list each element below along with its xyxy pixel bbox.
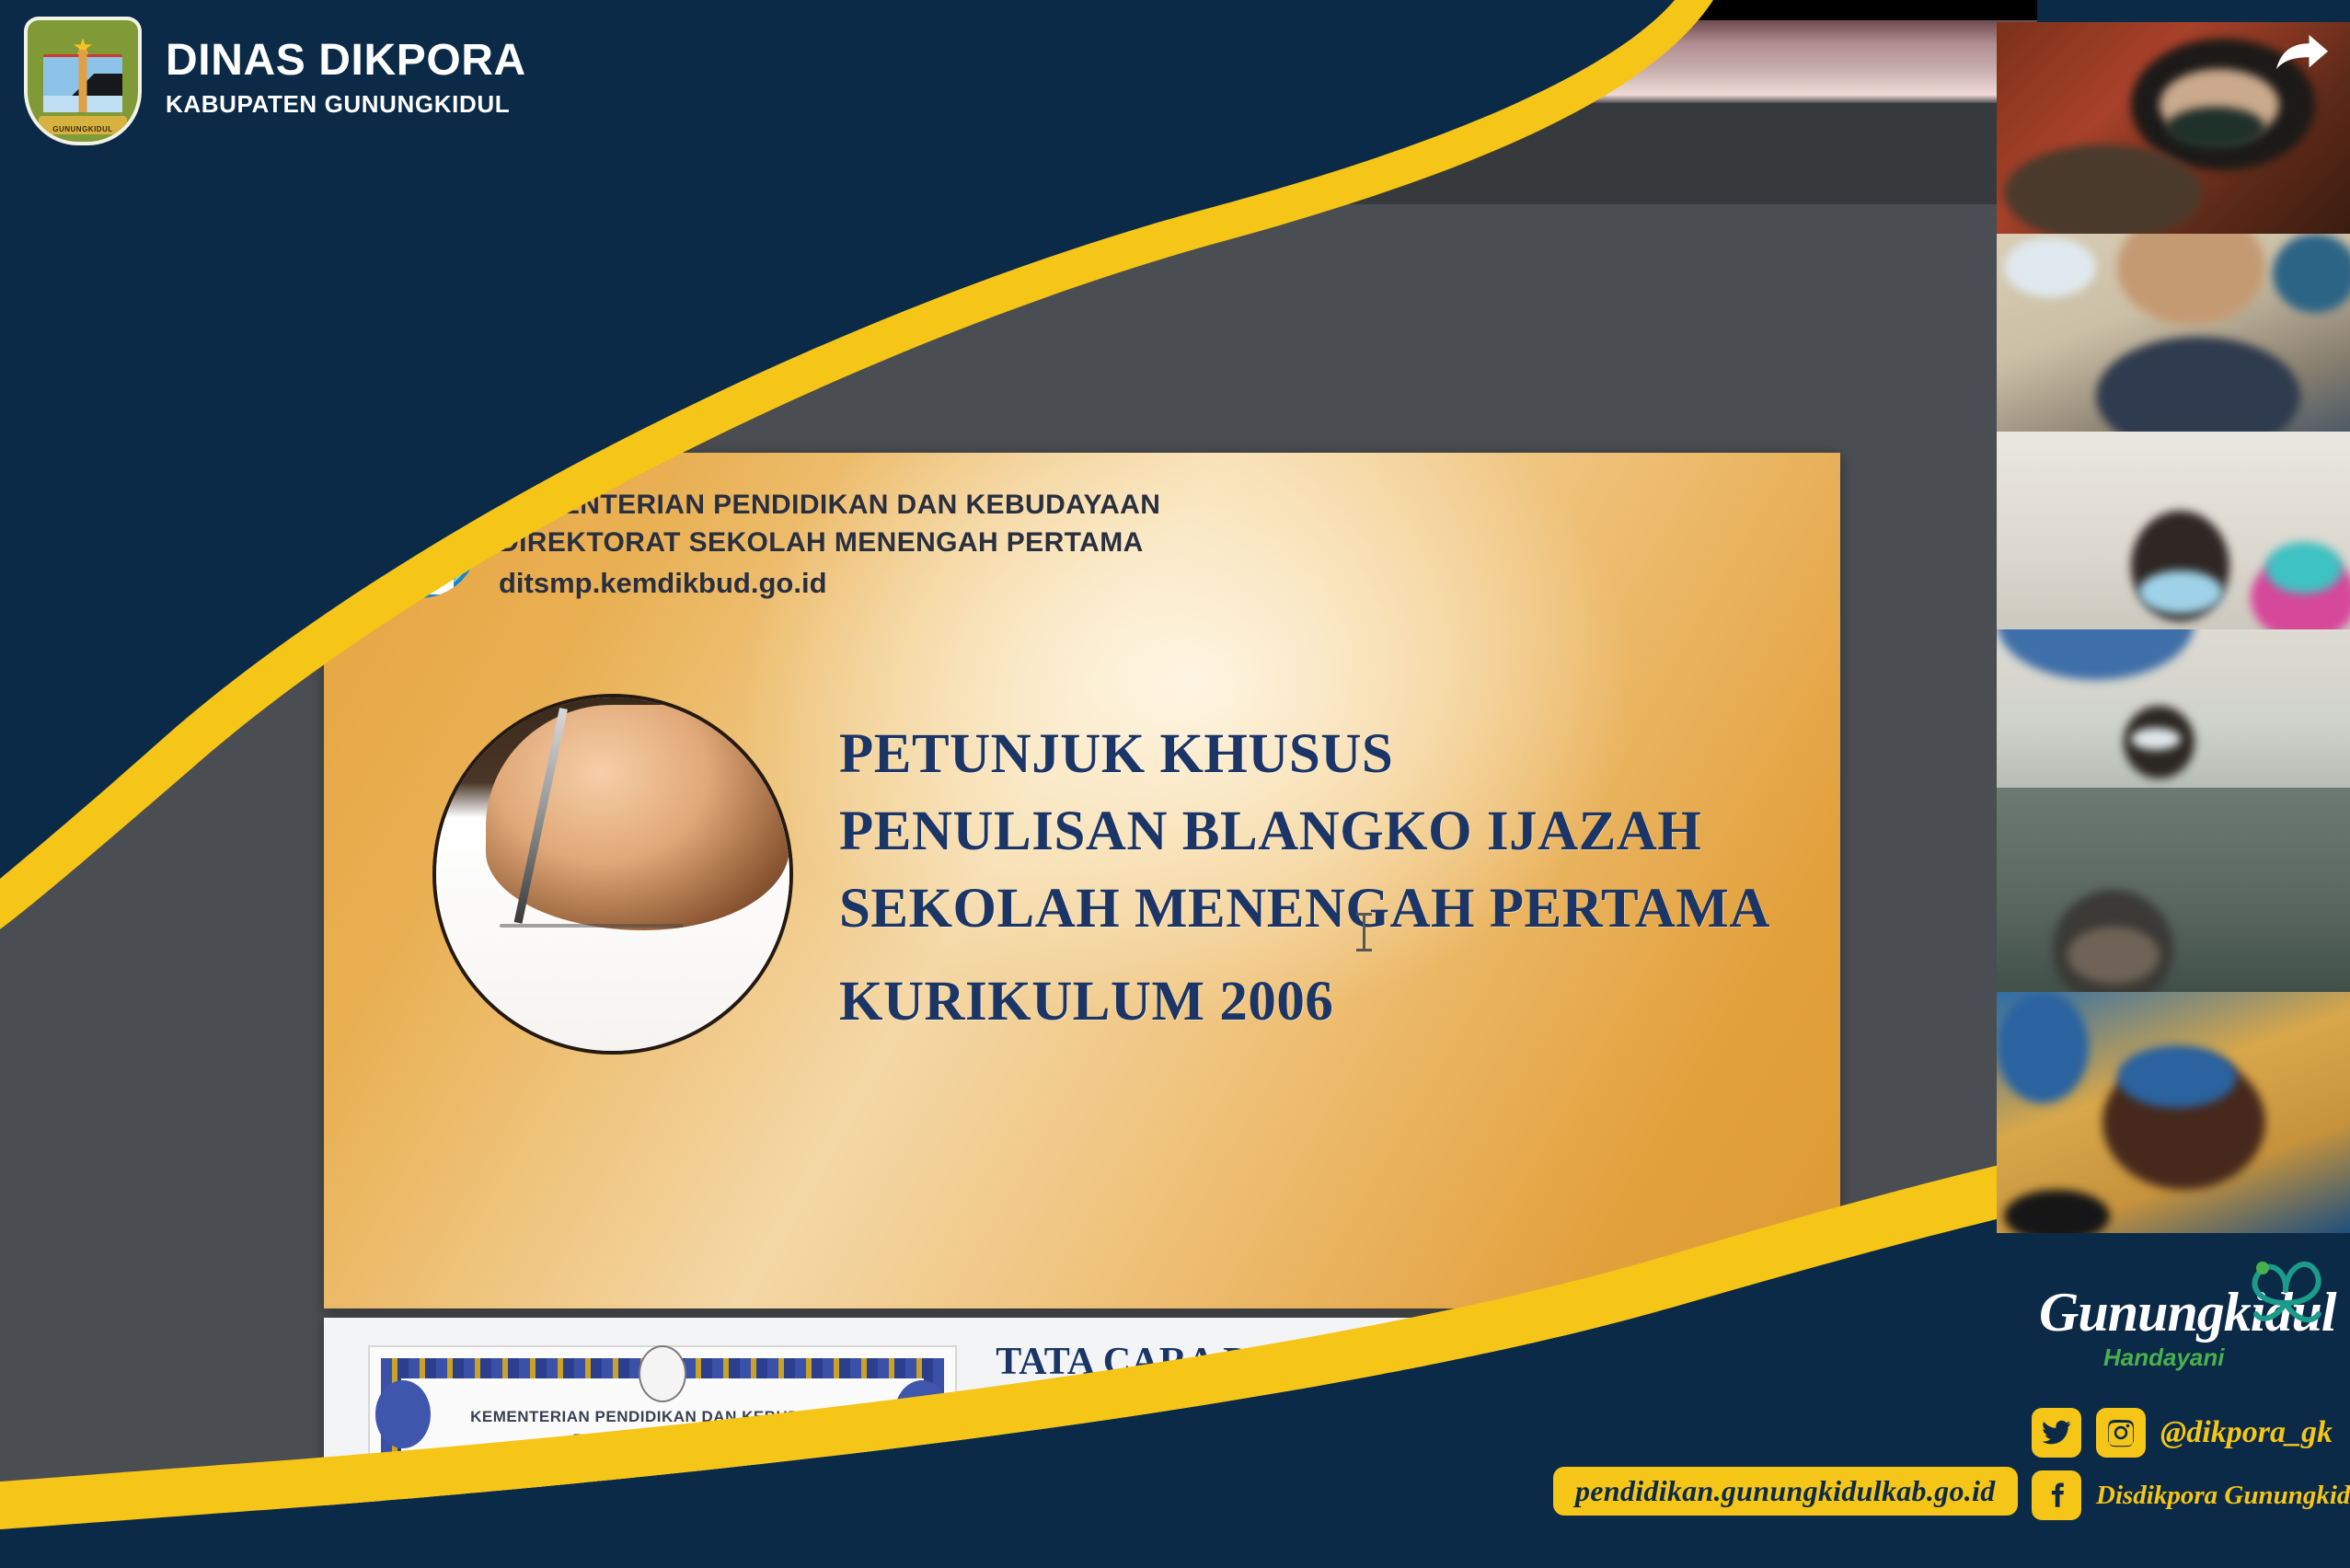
callout-arrow-icon [933, 1533, 979, 1537]
participant-tile-6[interactable] [1997, 992, 2350, 1233]
certificate-year: TAHUN PELAJARAN 2020/2021 [438, 1541, 887, 1555]
certificate-header-1: KEMENTERIAN PENDIDIKAN DAN KEBUDAYAAN [438, 1406, 887, 1429]
gunungkidul-handayani-logo: Gunungkidul Handayani [2039, 1285, 2343, 1372]
pdf-page-13-slide: KEMENTERIAN PENDIDIKAN DAN KEBUDAYAAN RE… [324, 1318, 1840, 1568]
participant-tile-4[interactable] [1997, 629, 2350, 788]
zoom-out-button[interactable]: − [767, 133, 808, 174]
brand-header: ★ GUNUNGKIDUL DINAS DIKPORA KABUPATEN GU… [24, 17, 526, 145]
zoom-level-input[interactable]: 100% [826, 136, 907, 172]
certificate-header-2: REPUBLIK INDONESIA [438, 1429, 887, 1452]
list-badge-1: 1 [983, 1516, 1025, 1559]
slide-title-line-4: KURIKULUM 2006 [839, 963, 1796, 1041]
brand-title: DINAS DIKPORA [166, 38, 526, 84]
certificate-title: IJAZAH [438, 1471, 887, 1500]
certificate-subtitle: SEKOLAH MENENGAH PERTAMA [438, 1516, 887, 1537]
slide-title-line-3: SEKOLAH MENENGAH PERTAMA [839, 870, 1796, 948]
toolbar-divider-1 [742, 138, 743, 169]
instruction-list: 1 Nama sekolah bersangkutan yang menerbi… [983, 1516, 1818, 1568]
garuda-medal-icon [639, 1345, 686, 1402]
facebook-handle[interactable]: Disdikpora Gunungkidul [2096, 1481, 2350, 1511]
gunungkidul-butterfly-icon [2229, 1246, 2339, 1334]
slide-title-line-2: PENULISAN BLANGKO IJAZAH [839, 793, 1796, 870]
pdf-document-canvas[interactable]: 🦅 KEMENTERIAN PENDIDIKAN DAN KEBUDAYAAN … [0, 204, 2037, 1568]
participant-tile-3[interactable] [1997, 432, 2350, 629]
zoom-in-button[interactable]: + [925, 133, 965, 174]
list-item-text: Nama sekolah bersangkutan yang menerbitk… [1038, 1516, 1818, 1568]
tut-wuri-handayani-logo: 🦅 [361, 480, 478, 598]
video-participants-strip[interactable] [1997, 0, 2350, 1233]
slide-title-line-1: PETUNJUK KHUSUS [839, 716, 1796, 793]
hand-writing-with-pen-photo [432, 694, 793, 1055]
ministry-line-2: DIREKTORAT SEKOLAH MENENGAH PERTAMA [499, 524, 1160, 561]
brand-subtitle: KABUPATEN GUNUNGKIDUL [166, 90, 526, 119]
participant-tile-2[interactable] [1997, 234, 2350, 432]
screenshot-root: 12 / 55 − 100% + [0, 0, 2350, 1568]
social-row-2: Disdikpora Gunungkidul [2032, 1470, 2350, 1520]
certificate-ornament-left [375, 1380, 431, 1448]
gunungkidul-regency-crest-icon: ★ GUNUNGKIDUL [24, 17, 142, 145]
certificate-ornament-right [894, 1380, 950, 1448]
fit-to-page-icon[interactable] [1015, 133, 1055, 174]
participant-tile-5[interactable] [1997, 788, 2350, 992]
rotate-clockwise-icon[interactable] [1074, 133, 1114, 174]
toolbar-divider-2 [989, 138, 991, 169]
website-url-badge[interactable]: pendidikan.gunungkidulkab.go.id [1553, 1467, 2018, 1516]
list-item: 1 Nama sekolah bersangkutan yang menerbi… [983, 1516, 1818, 1568]
share-forward-arrow-icon[interactable] [2275, 33, 2330, 74]
social-links: @dikpora_gk Disdikpora Gunungkidul [2032, 1408, 2350, 1533]
ijazah-certificate-preview: KEMENTERIAN PENDIDIKAN DAN KEBUDAYAAN RE… [368, 1345, 957, 1568]
slide2-content: TATA CARA PENGISIAN BLANGKO IJAZAH SMP K… [983, 1336, 1818, 1568]
ministry-url: ditsmp.kemdikbud.go.id [499, 562, 1160, 605]
facebook-icon[interactable] [2032, 1470, 2081, 1520]
screen-share-area: 12 / 55 − 100% + [0, 0, 2037, 1568]
pdf-page-12-title-slide: 🦅 KEMENTERIAN PENDIDIKAN DAN KEBUDAYAAN … [324, 453, 1840, 1309]
text-cursor-icon [1363, 913, 1365, 951]
slide2-title-line-1: TATA CARA PENGISIAN BLANGKO IJAZAH SMP [983, 1336, 1818, 1440]
gunungkidul-tagline: Handayani [2103, 1343, 2343, 1372]
crest-band-label: GUNUNGKIDUL [28, 125, 138, 133]
twitter-icon[interactable] [2032, 1408, 2081, 1458]
pdf-page-number-input[interactable]: 12 [618, 135, 661, 171]
pdf-page-total: / 55 [679, 141, 718, 167]
instagram-handle[interactable]: @dikpora_gk [2160, 1415, 2333, 1450]
ministry-header: 🦅 KEMENTERIAN PENDIDIKAN DAN KEBUDAYAAN … [361, 480, 1160, 605]
slide-title-block: PETUNJUK KHUSUS PENULISAN BLANGKO IJAZAH… [839, 716, 1796, 1041]
social-row-1: @dikpora_gk [2032, 1408, 2350, 1458]
ministry-line-1: KEMENTERIAN PENDIDIKAN DAN KEBUDAYAAN [499, 486, 1160, 524]
instagram-icon[interactable] [2096, 1408, 2146, 1458]
